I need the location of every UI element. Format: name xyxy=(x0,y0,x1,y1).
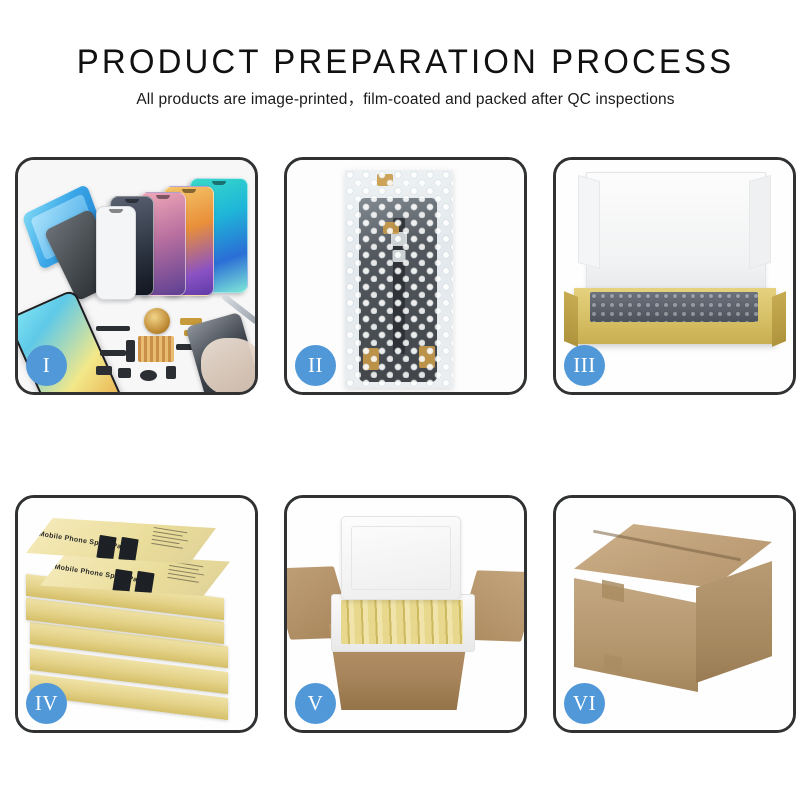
process-step-panel-2: II xyxy=(284,157,527,395)
speaker-coil-icon xyxy=(144,308,170,334)
process-step-panel-6: VI xyxy=(553,495,796,733)
page-header: PRODUCT PREPARATION PROCESS All products… xyxy=(0,0,811,111)
process-step-panel-4: Mobile Phone Spare Parts Mobile Phone Sp… xyxy=(15,495,258,733)
process-step-grid: I II III xyxy=(15,157,796,733)
process-step-panel-5: V xyxy=(284,495,527,733)
box-label-top: Mobile Phone Spare Parts xyxy=(38,531,132,553)
lid-flap-right-icon xyxy=(749,175,771,269)
bubble-wrap-bag-icon xyxy=(345,170,453,388)
phone-white-front-glass-icon xyxy=(96,206,136,300)
box-label-front: Mobile Phone Spare Parts xyxy=(54,564,148,586)
foam-box-lid-icon xyxy=(341,516,461,600)
lid-flap-left-icon xyxy=(578,175,600,269)
white-box-lid-icon xyxy=(586,172,766,302)
process-step-panel-3: III xyxy=(553,157,796,395)
gold-boxes-inside-icon xyxy=(341,600,463,644)
gold-box-lid-top-icon: Mobile Phone Spare Parts xyxy=(26,518,216,564)
page-title: PRODUCT PREPARATION PROCESS xyxy=(12,42,799,82)
step-badge-1: I xyxy=(26,345,67,386)
step-badge-5: V xyxy=(295,683,336,724)
process-step-panel-1: I xyxy=(15,157,258,395)
step-badge-4: IV xyxy=(26,683,67,724)
step-badge-6: VI xyxy=(564,683,605,724)
grey-bubble-wrap-contents-icon xyxy=(590,292,758,322)
step-badge-3: III xyxy=(564,345,605,386)
page-subtitle: All products are image-printed，film-coat… xyxy=(0,89,811,111)
step-badge-2: II xyxy=(295,345,336,386)
connector-grid-icon xyxy=(138,336,174,362)
phone-lineup-group xyxy=(102,178,250,310)
hand-icon xyxy=(201,338,255,392)
